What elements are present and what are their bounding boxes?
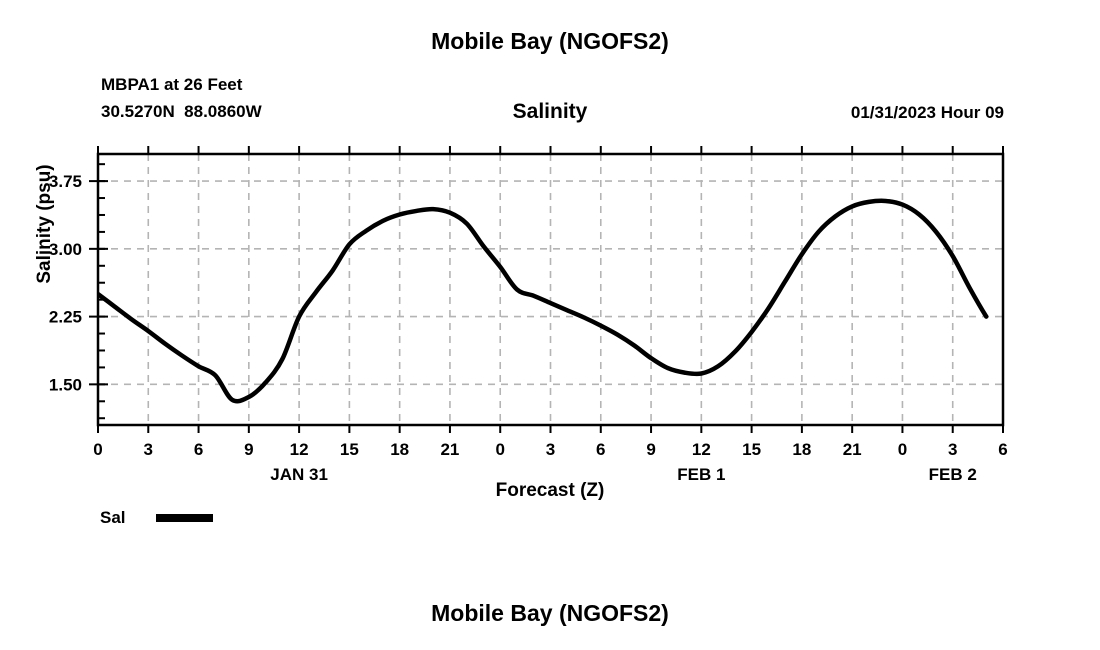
x-tick-label: 12 [692,440,711,459]
x-tick-label: 9 [646,440,655,459]
x-tick-label: 0 [93,440,102,459]
x-tick-label: 21 [843,440,862,459]
chart-legend: Sal [100,508,213,528]
y-axis-title: Salinity (psu) [34,114,56,334]
x-tick-label: 3 [948,440,957,459]
y-tick-label: 1.50 [49,375,82,394]
chart-svg: 036912151821036912151821036 1.502.253.00… [0,0,1100,650]
page-title-bottom: Mobile Bay (NGOFS2) [0,600,1100,627]
x-axis-title: Forecast (Z) [0,480,1100,502]
chart-page: Mobile Bay (NGOFS2) MBPA1 at 26 Feet 30.… [0,0,1100,650]
x-tick-label: 3 [144,440,153,459]
x-tick-label: 9 [244,440,253,459]
legend-swatch-sal [156,514,213,522]
x-tick-label: 0 [898,440,907,459]
x-tick-label: 3 [546,440,555,459]
x-tick-label: 15 [742,440,761,459]
gridlines [98,154,1003,425]
x-tick-label: 6 [998,440,1007,459]
x-tick-label: 18 [390,440,409,459]
x-tick-label: 6 [596,440,605,459]
x-axis-tick-labels: 036912151821036912151821036 [93,440,1007,459]
x-tick-label: 21 [440,440,459,459]
data-series [98,201,986,401]
plot-area: 036912151821036912151821036 1.502.253.00… [0,0,1100,650]
x-tick-label: 0 [495,440,504,459]
legend-label-sal: Sal [100,508,126,528]
x-tick-label: 12 [290,440,309,459]
series-line-sal [98,201,986,401]
x-tick-label: 6 [194,440,203,459]
x-tick-label: 18 [792,440,811,459]
x-tick-label: 15 [340,440,359,459]
